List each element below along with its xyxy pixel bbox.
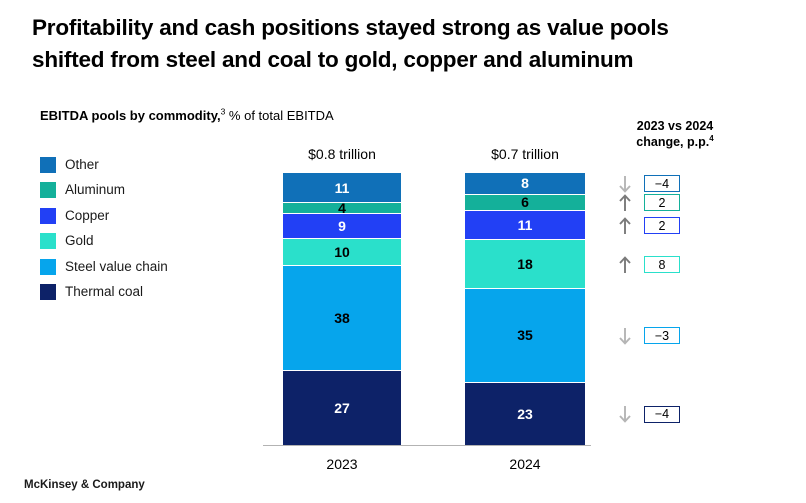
legend-item-aluminum[interactable]: Aluminum [40, 178, 250, 204]
legend-label-copper: Copper [65, 208, 109, 224]
arrow-down-icon [618, 175, 632, 193]
legend-swatch-copper [40, 208, 56, 224]
bar-segment-value: 6 [521, 194, 529, 210]
legend-label-thermal-coal: Thermal coal [65, 284, 143, 300]
bar-segment-value: 35 [517, 327, 533, 343]
page-title-line-2: shifted from steel and coal to gold, cop… [32, 44, 788, 76]
page-title-line-1: Profitability and cash positions stayed … [32, 12, 788, 44]
change-value-box: −3 [644, 327, 680, 344]
brand-footer: McKinsey & Company [24, 478, 145, 492]
legend-label-gold: Gold [65, 233, 94, 249]
arrow-down-icon [618, 327, 632, 345]
arrow-up-icon [618, 217, 632, 235]
change-row: 2 [618, 216, 680, 236]
x-tick-label-2023: 2023 [326, 455, 357, 473]
bar-segment[interactable]: 38 [283, 266, 401, 370]
change-row: 2 [618, 193, 680, 213]
change-header-line-2: change, p.p. [636, 135, 709, 149]
change-row: −4 [618, 404, 680, 424]
change-value-box: 2 [644, 217, 680, 234]
arrow-down-icon [618, 405, 632, 423]
bar-group-2023[interactable]: $0.8 trillion 1149103827 2023 [283, 173, 401, 445]
change-value-box: 8 [644, 256, 680, 273]
change-value: −3 [655, 329, 669, 343]
change-value-box: −4 [644, 175, 680, 192]
bar-segment[interactable]: 4 [283, 203, 401, 214]
bar-total-2023: $0.8 trillion [308, 145, 376, 163]
change-value-box: −4 [644, 406, 680, 423]
legend-label-other: Other [65, 157, 99, 173]
bar-segment-value: 38 [334, 310, 350, 326]
bar-segment-value: 18 [517, 256, 533, 272]
bar-segment[interactable]: 23 [465, 383, 585, 445]
legend-swatch-steel-value-chain [40, 259, 56, 275]
bar-segment[interactable]: 8 [465, 173, 585, 195]
x-axis-line [263, 445, 591, 446]
legend-swatch-aluminum [40, 182, 56, 198]
chart-subtitle: EBITDA pools by commodity,3 % of total E… [40, 108, 334, 124]
change-value: −4 [655, 177, 669, 191]
bar-stack-2023: 1149103827 [283, 173, 401, 445]
bar-segment[interactable]: 27 [283, 371, 401, 445]
change-header-footnote-marker: 4 [709, 134, 713, 143]
arrow-up-icon [618, 256, 632, 274]
legend-item-steel-value-chain[interactable]: Steel value chain [40, 254, 250, 280]
bar-segment-value: 11 [335, 180, 350, 196]
legend-item-gold[interactable]: Gold [40, 229, 250, 255]
bar-total-2024: $0.7 trillion [491, 145, 559, 163]
change-row: −4 [618, 174, 680, 194]
chart-subtitle-strong: EBITDA pools by commodity, [40, 108, 221, 123]
bar-segment-value: 9 [338, 218, 346, 234]
bar-segment-value: 8 [521, 175, 529, 191]
bar-stack-2024: 8611183523 [465, 173, 585, 445]
legend-swatch-thermal-coal [40, 284, 56, 300]
legend-swatch-gold [40, 233, 56, 249]
bar-segment[interactable]: 11 [465, 211, 585, 241]
change-value: 2 [659, 219, 666, 233]
arrow-up-icon [618, 194, 632, 212]
legend-label-aluminum: Aluminum [65, 182, 125, 198]
legend-item-thermal-coal[interactable]: Thermal coal [40, 280, 250, 306]
change-value: −4 [655, 407, 669, 421]
change-row: −3 [618, 326, 680, 346]
page-title: Profitability and cash positions stayed … [32, 12, 788, 76]
bar-segment[interactable]: 35 [465, 289, 585, 383]
bar-segment-value: 27 [334, 400, 350, 416]
change-value-box: 2 [644, 194, 680, 211]
x-tick-label-2024: 2024 [509, 455, 540, 473]
change-value: 8 [659, 258, 666, 272]
legend-item-copper[interactable]: Copper [40, 203, 250, 229]
legend-item-other[interactable]: Other [40, 152, 250, 178]
bar-segment[interactable]: 6 [465, 195, 585, 211]
change-value: 2 [659, 196, 666, 210]
legend-label-steel-value-chain: Steel value chain [65, 259, 168, 275]
change-row: 8 [618, 255, 680, 275]
bar-segment[interactable]: 18 [465, 240, 585, 288]
change-header-line-1: 2023 vs 2024 [637, 119, 713, 133]
bar-segment-value: 23 [517, 406, 533, 422]
chart-subtitle-rest: % of total EBITDA [225, 108, 333, 123]
bar-group-2024[interactable]: $0.7 trillion 8611183523 2024 [465, 173, 585, 445]
bar-segment[interactable]: 9 [283, 214, 401, 239]
bar-segment-value: 11 [518, 217, 533, 233]
bar-segment[interactable]: 10 [283, 239, 401, 266]
bar-segment[interactable]: 11 [283, 173, 401, 203]
change-column-header: 2023 vs 2024change, p.p.4 [612, 118, 738, 150]
bar-segment-value: 10 [334, 244, 350, 260]
chart-legend: Other Aluminum Copper Gold Steel value c… [40, 152, 250, 305]
change-column: 2023 vs 2024change, p.p.4 −4228−3−4 [612, 118, 762, 150]
legend-swatch-other [40, 157, 56, 173]
